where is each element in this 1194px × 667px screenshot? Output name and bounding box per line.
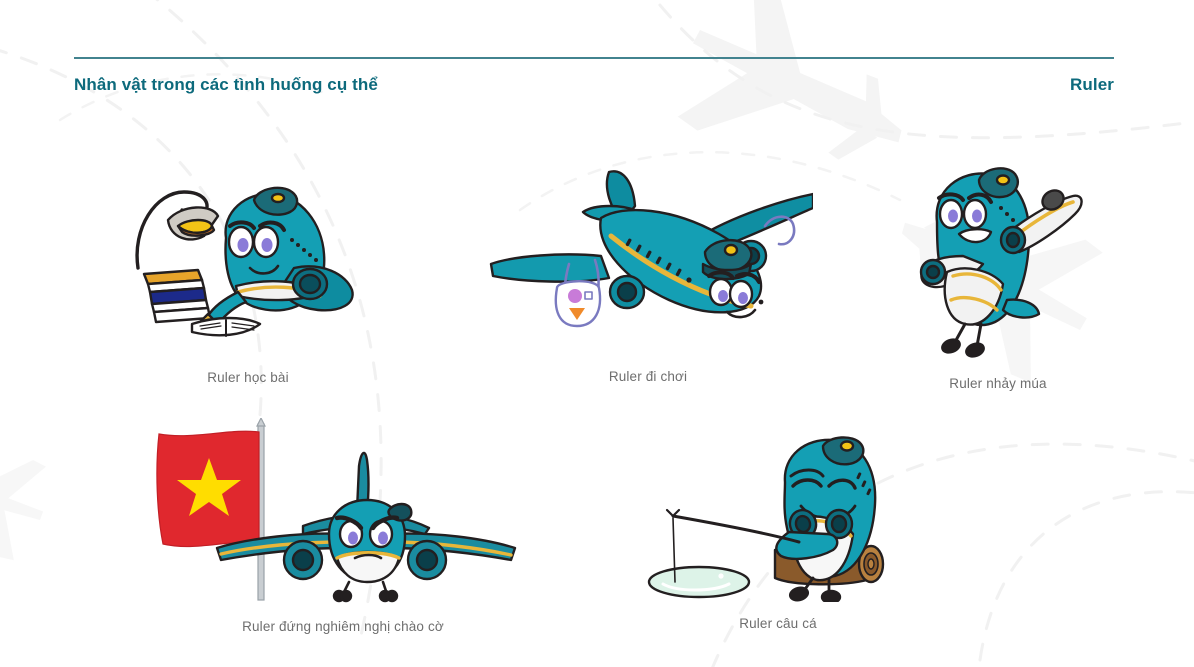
scene-caption-travel: Ruler đi chơi [609, 369, 687, 384]
scene-card-salute[interactable]: Ruler đứng nghiêm nghị chào cờ [148, 418, 538, 634]
illustration-ruler-studying [126, 176, 371, 356]
scene-caption-fish: Ruler câu cá [739, 616, 817, 631]
illustration-ruler-travelling [483, 160, 813, 345]
scene-caption-study: Ruler học bài [207, 370, 289, 385]
vietnam-flag [157, 431, 259, 546]
scene-caption-salute: Ruler đứng nghiêm nghị chào cờ [242, 619, 444, 634]
illustration-ruler-fishing [633, 432, 923, 602]
scene-card-study[interactable]: Ruler học bài [118, 176, 378, 385]
scene-caption-dance: Ruler nhảy múa [949, 376, 1046, 391]
scene-card-travel[interactable]: Ruler đi chơi [478, 160, 818, 384]
character-label: Ruler [1070, 75, 1114, 95]
header-divider [74, 57, 1114, 59]
slide-header: Nhân vật trong các tình huống cụ thể Rul… [74, 70, 1114, 100]
scene-card-dance[interactable]: Ruler nhảy múa [898, 160, 1098, 391]
scene-card-fish[interactable]: Ruler câu cá [628, 432, 928, 631]
illustration-ruler-saluting-flag [153, 418, 533, 603]
scene-gallery: Ruler học bài [0, 0, 1194, 667]
illustration-ruler-dancing [903, 160, 1093, 360]
slide-canvas: Nhân vật trong các tình huống cụ thể Rul… [0, 0, 1194, 667]
page-title: Nhân vật trong các tình huống cụ thể [74, 75, 378, 95]
